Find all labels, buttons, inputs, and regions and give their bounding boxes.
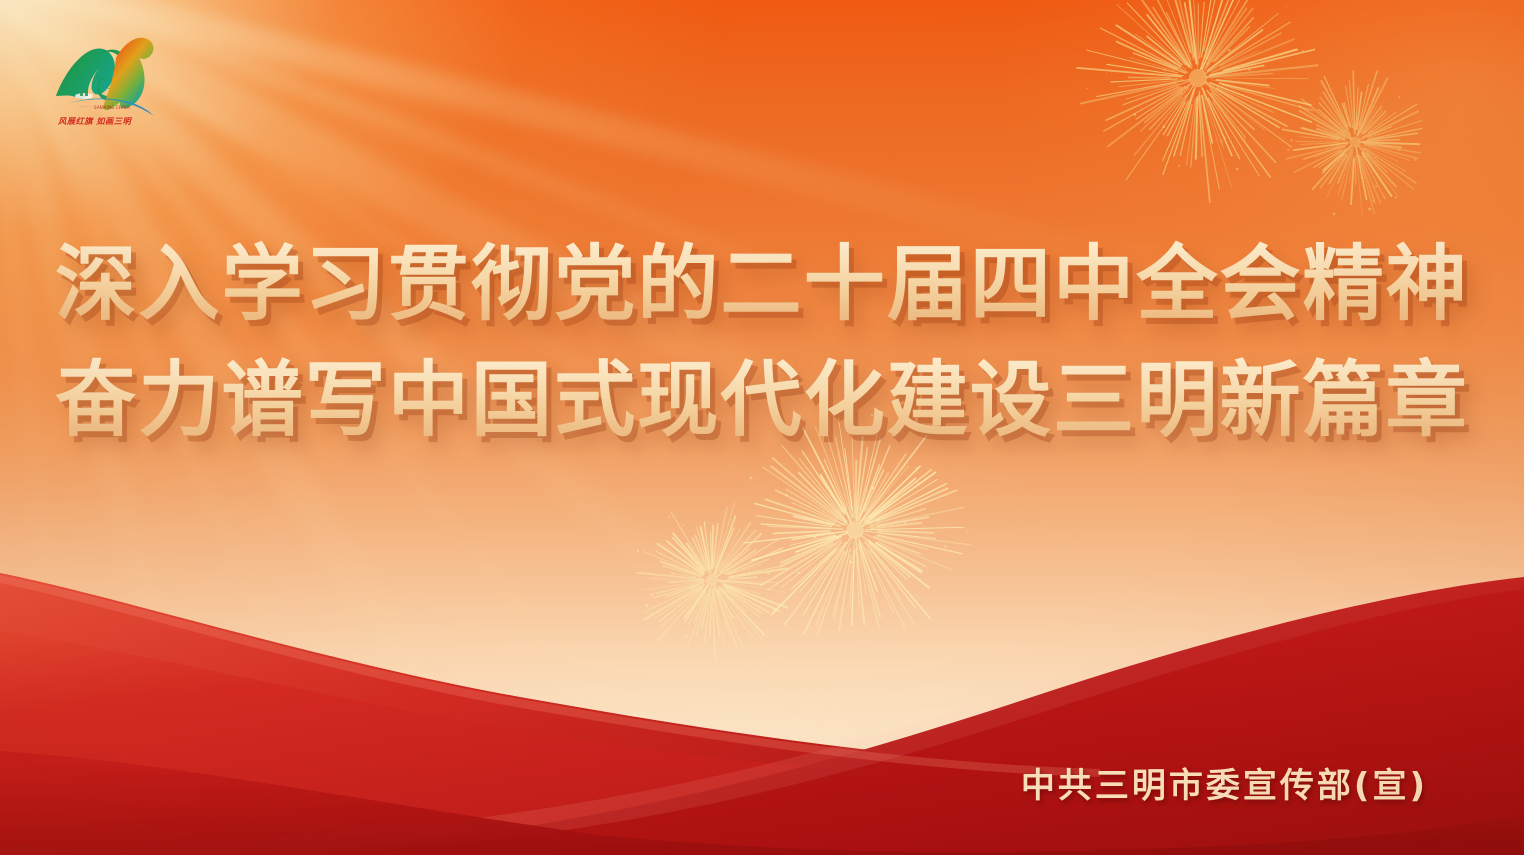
credit-line: 中共三明市委宣传部(宣): [1021, 758, 1428, 807]
logo-mark-text: SANMING CHINA: [94, 105, 130, 110]
headline-line-2: 奋力谱写中国式现代化建设三明新篇章: [8, 344, 1517, 456]
logo-slogan: 风展红旗 如画三明: [58, 118, 161, 127]
sanming-logo: SANMING CHINA 风展红旗 如画三明: [50, 24, 190, 126]
headline-block: 深入学习贯彻党的二十届四中全会精神 奋力谱写中国式现代化建设三明新篇章: [0, 228, 1524, 456]
poster-canvas: SANMING CHINA 风展红旗 如画三明 深入学习贯彻党的二十届四中全会精…: [0, 0, 1524, 855]
headline-line-1: 深入学习贯彻党的二十届四中全会精神: [8, 228, 1517, 340]
